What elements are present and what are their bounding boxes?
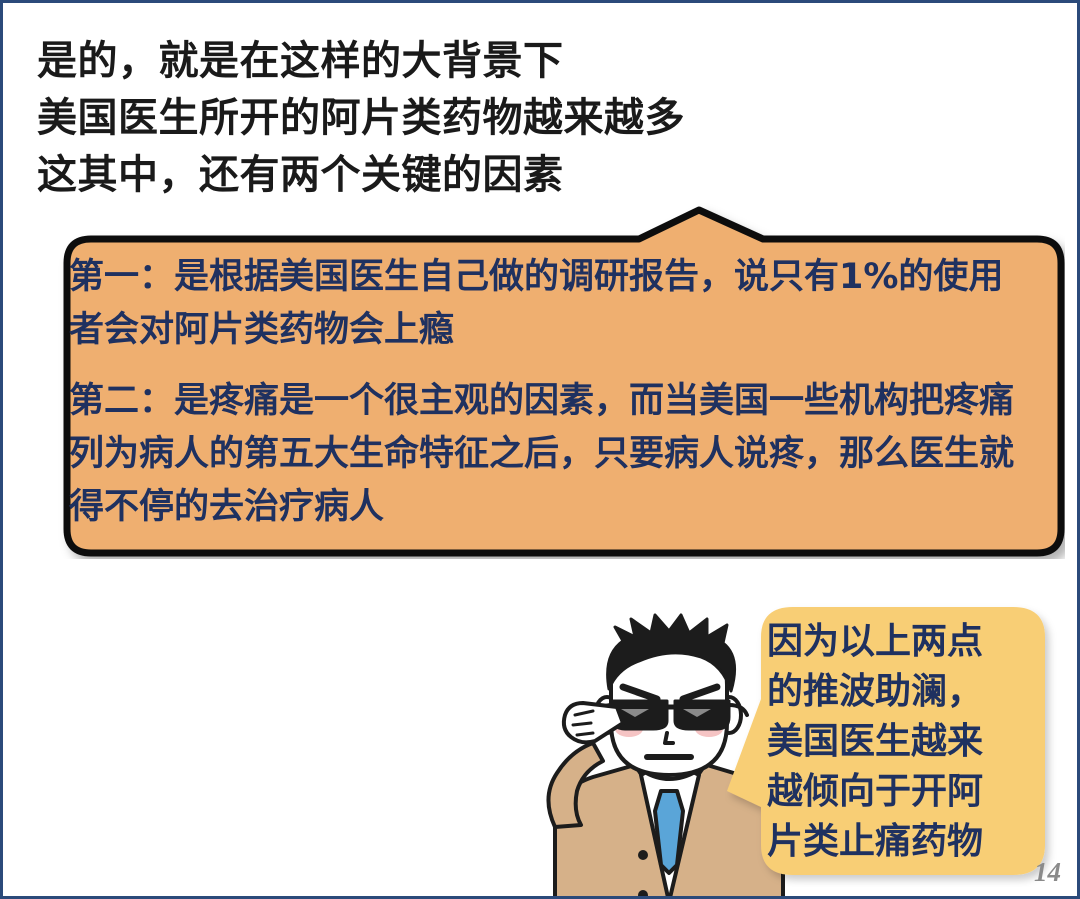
heading-line-2: 美国医生所开的阿片类药物越来越多 <box>37 90 997 147</box>
slide-canvas: 是的，就是在这样的大背景下 美国医生所开的阿片类药物越来越多 这其中，还有两个关… <box>0 0 1080 899</box>
yellow-line-4: 越倾向于开阿 <box>767 767 1045 817</box>
page-number: 14 <box>1034 857 1061 888</box>
finger-line-2 <box>573 723 591 725</box>
yellow-bubble-text: 因为以上两点 的推波助澜， 美国医生越来 越倾向于开阿 片类止痛药物 <box>767 617 1045 867</box>
orange-speech-bubble: 第一：是根据美国医生自己做的调研报告，说只有1%的使用者会对阿片类药物会上瘾 第… <box>39 203 1065 559</box>
coat-button-1 <box>638 850 648 860</box>
yellow-line-1: 因为以上两点 <box>767 617 1045 667</box>
page-title: 是的，就是在这样的大背景下 美国医生所开的阿片类药物越来越多 这其中，还有两个关… <box>37 33 997 204</box>
necktie <box>655 791 683 873</box>
finger-line-3 <box>577 733 593 735</box>
orange-paragraph-2: 第二：是疼痛是一个很主观的因素，而当美国一些机构把疼痛列为病人的第五大生命特征之… <box>69 375 1035 534</box>
heading-line-3: 这其中，还有两个关键的因素 <box>37 147 997 204</box>
yellow-line-2: 的推波助澜， <box>767 667 1045 717</box>
yellow-line-5: 片类止痛药物 <box>767 817 1045 867</box>
orange-bubble-text: 第一：是根据美国医生自己做的调研报告，说只有1%的使用者会对阿片类药物会上瘾 第… <box>69 251 1035 534</box>
heading-line-1: 是的，就是在这样的大背景下 <box>37 33 997 90</box>
yellow-speech-bubble: 因为以上两点 的推波助澜， 美国医生越来 越倾向于开阿 片类止痛药物 <box>725 595 1057 887</box>
orange-paragraph-1: 第一：是根据美国医生自己做的调研报告，说只有1%的使用者会对阿片类药物会上瘾 <box>69 251 1035 357</box>
yellow-line-3: 美国医生越来 <box>767 717 1045 767</box>
sunglasses-right-lens <box>675 701 729 729</box>
